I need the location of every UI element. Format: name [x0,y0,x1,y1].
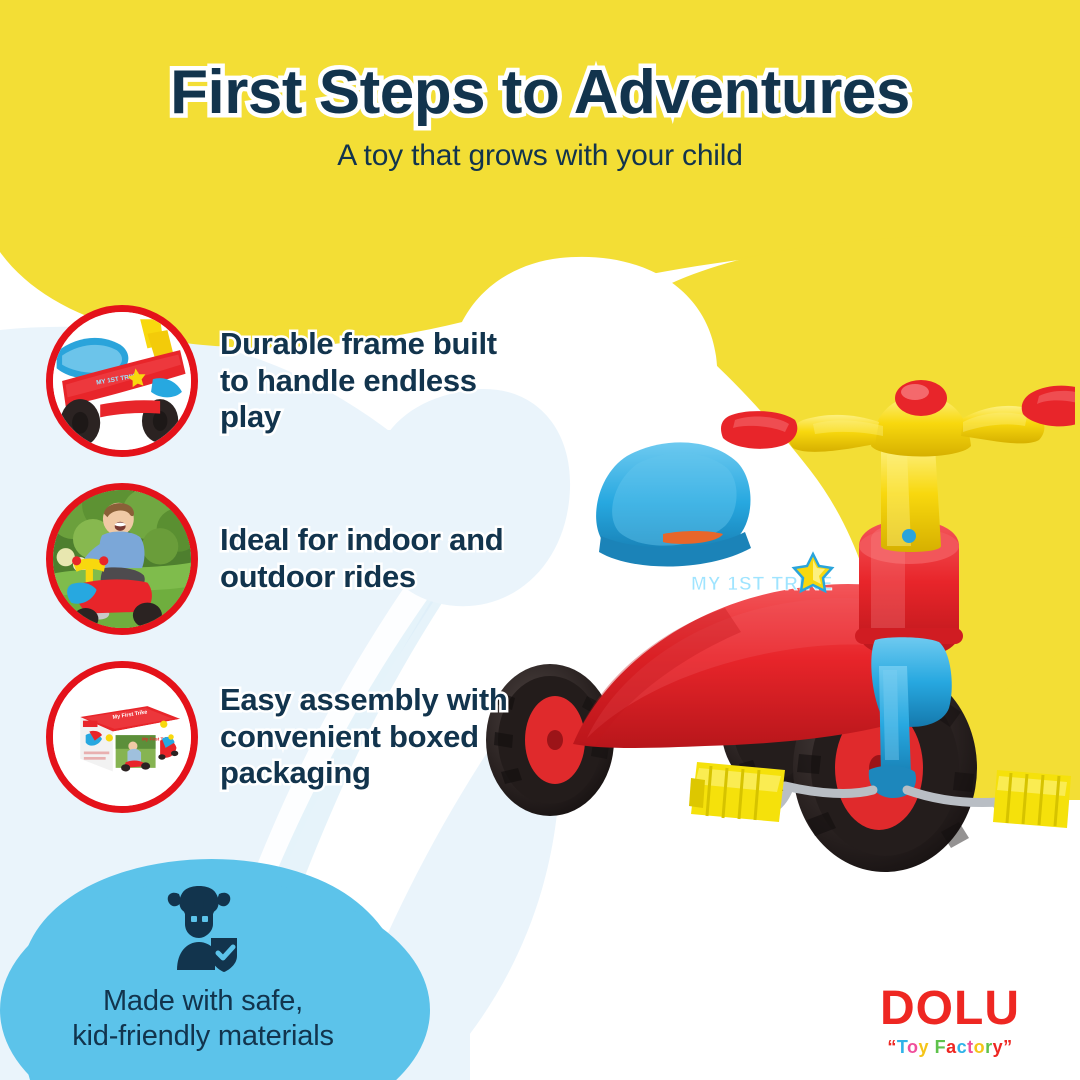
feature-item-indoor-outdoor: Ideal for indoor and outdoor rides [0,483,520,635]
logo-tagline: “Toy Factory” [860,1037,1040,1058]
trike-stem [881,446,941,552]
safety-text-line1: Made with safe, [8,984,398,1019]
pedal-right [993,770,1071,828]
child-riding-photo [53,490,191,628]
feature-image-easy-assembly: My First Trike [46,661,198,813]
logo-quote-left: “ [887,1037,897,1057]
trike-seat [596,442,751,566]
boxed-packaging-photo: My First Trike [53,668,191,806]
feature-text-indoor-outdoor: Ideal for indoor and outdoor rides [220,522,520,595]
trike-illustration: MY 1ST TRIKE [455,340,1075,880]
trike-frame-photo: MY 1ST TRIKE [53,312,191,450]
safety-text: Made with safe, kid-friendly materials [8,984,398,1055]
safety-badge: Made with safe, kid-friendly materials [8,882,398,1055]
feature-item-easy-assembly: My First Trike [0,661,520,813]
trike-handlebar [789,380,1044,457]
feature-list: MY 1ST TRIKE Durable frame built to hand… [0,305,520,839]
brand-logo: DOLU “Toy Factory” [860,985,1040,1058]
pedal-left [689,762,785,822]
product-image-trike: MY 1ST TRIKE [455,340,1075,880]
feature-image-durable-frame: MY 1ST TRIKE [46,305,198,457]
logo-quote-right: ” [1003,1037,1013,1057]
child-shield-check-icon [155,882,251,974]
feature-item-durable-frame: MY 1ST TRIKE Durable frame built to hand… [0,305,520,457]
feature-text-durable-frame: Durable frame built to handle endless pl… [220,326,520,436]
feature-image-indoor-outdoor [46,483,198,635]
page-title: First Steps to Adventures [0,60,1080,125]
header: First Steps to Adventures A toy that gro… [0,0,1080,173]
page-subtitle: A toy that grows with your child [0,139,1080,173]
infographic-canvas: First Steps to Adventures A toy that gro… [0,0,1080,1080]
feature-text-easy-assembly: Easy assembly with convenient boxed pack… [220,682,520,792]
logo-brand-text: DOLU [860,985,1040,1033]
safety-text-line2: kid-friendly materials [8,1019,398,1054]
